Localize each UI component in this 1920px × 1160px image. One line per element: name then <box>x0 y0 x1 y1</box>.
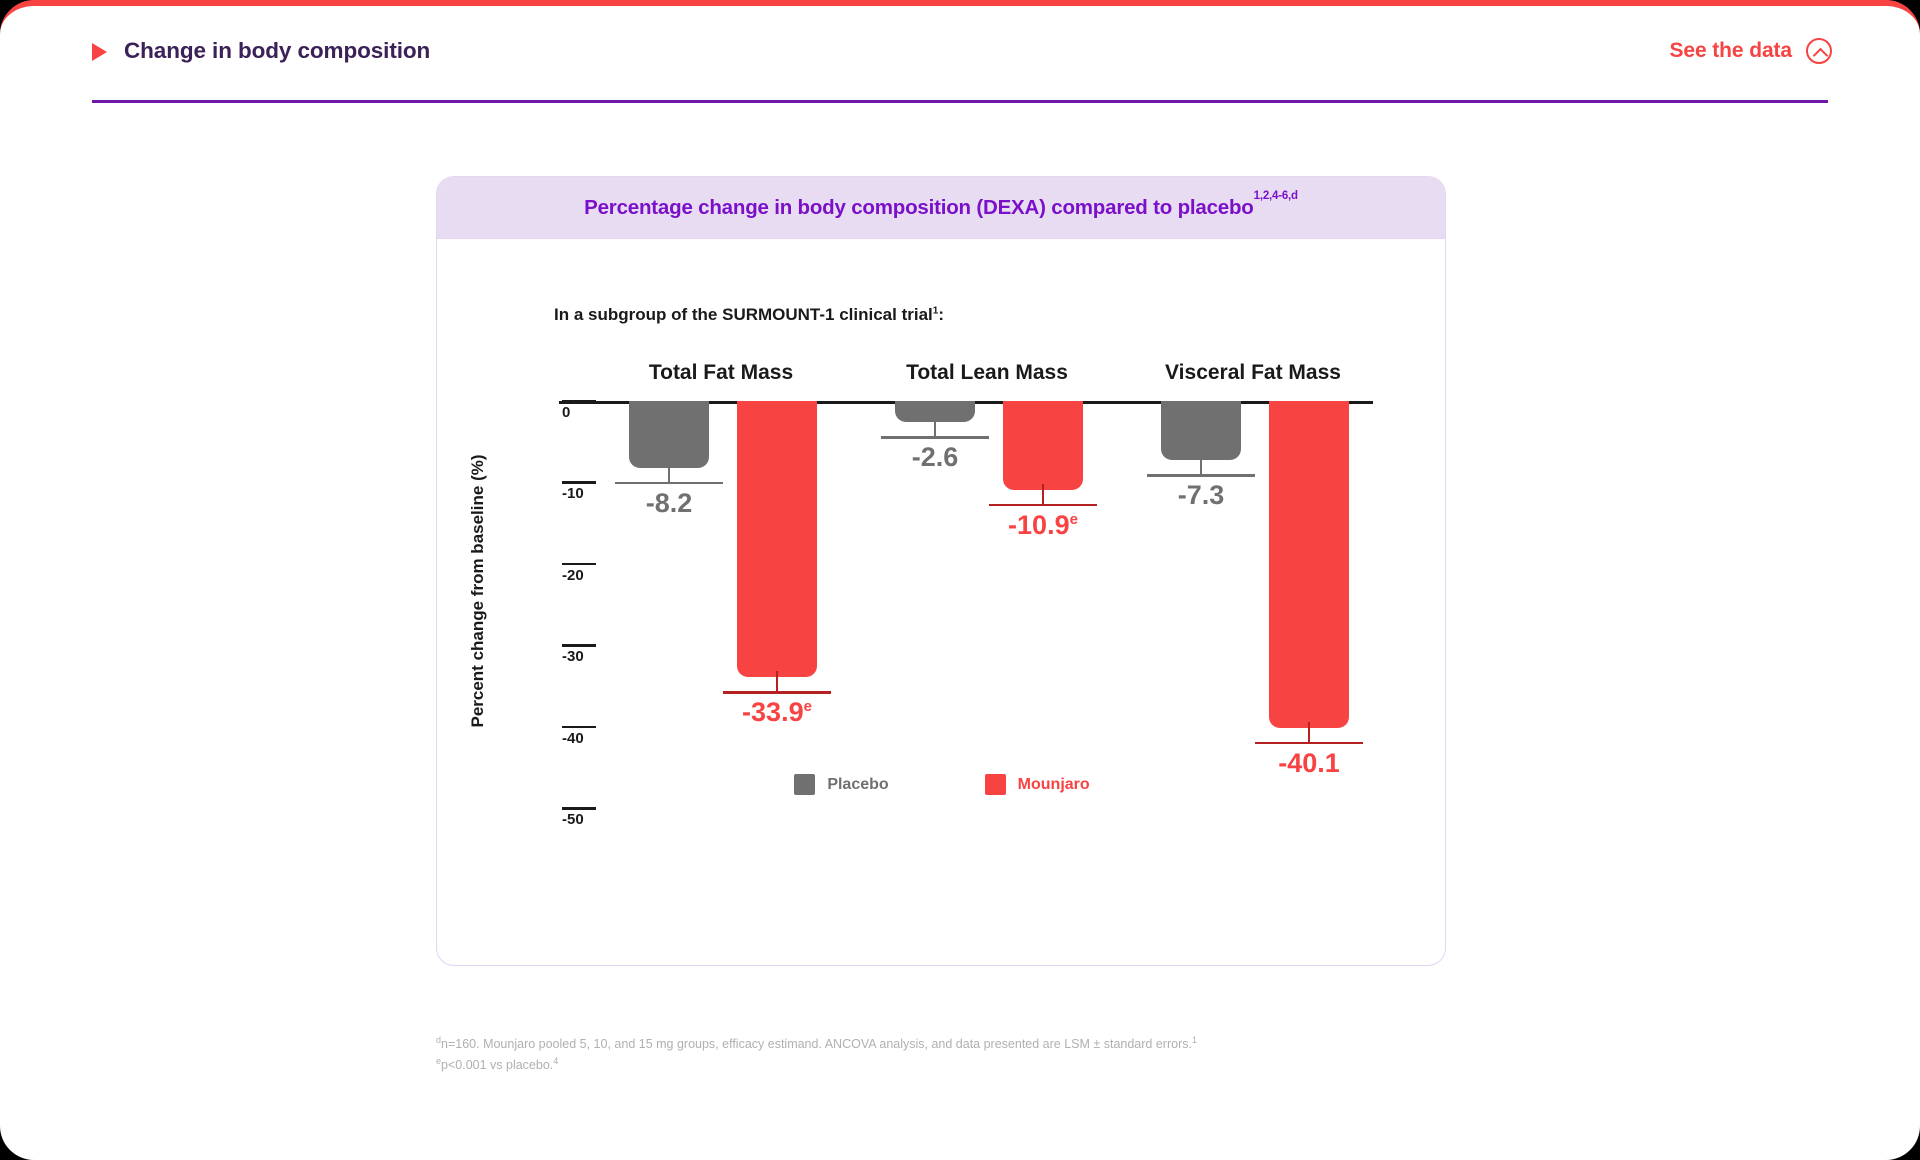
footnote-2-text: p<0.001 vs placebo. <box>441 1058 553 1072</box>
error-bar-stem <box>776 671 779 691</box>
y-axis-tick-mark <box>562 726 596 729</box>
page-card: Change in body composition See the data … <box>0 0 1920 1160</box>
footnote-line-2: ep<0.001 vs placebo.4 <box>436 1055 1536 1076</box>
error-bar-cap <box>615 482 723 485</box>
group-label: Total Fat Mass <box>621 361 821 385</box>
error-bar-cap <box>1147 474 1255 477</box>
header-title-group: Change in body composition <box>92 38 430 64</box>
bar-value-label: -10.9e <box>968 510 1118 541</box>
legend-label: Mounjaro <box>1018 776 1090 794</box>
section-header: Change in body composition See the data <box>0 12 1920 96</box>
y-axis-tick-mark <box>562 400 596 403</box>
chart-body: In a subgroup of the SURMOUNT-1 clinical… <box>437 239 1445 965</box>
chart-card: Percentage change in body composition (D… <box>436 176 1446 966</box>
see-the-data-toggle[interactable]: See the data <box>1669 38 1832 64</box>
bar-value-label: -7.3 <box>1126 480 1276 511</box>
chart-card-header: Percentage change in body composition (D… <box>437 177 1445 239</box>
bar-value-superscript: e <box>804 698 812 715</box>
bar-mounjaro <box>1269 401 1349 728</box>
header-divider <box>92 100 1828 103</box>
chart-title-text: Percentage change in body composition (D… <box>584 196 1254 219</box>
bar-value-text: -7.3 <box>1178 480 1225 510</box>
error-bar-stem <box>934 416 937 436</box>
group-label: Visceral Fat Mass <box>1153 361 1353 385</box>
chart-legend: PlaceboMounjaro <box>437 774 1446 795</box>
error-bar-stem <box>1200 454 1203 474</box>
chevron-up-circle-icon[interactable] <box>1806 38 1832 64</box>
y-axis-tick-label: -10 <box>562 485 584 502</box>
legend-item: Placebo <box>794 774 888 795</box>
bar-value-label: -33.9e <box>702 697 852 728</box>
bar-value-superscript: e <box>1070 511 1078 528</box>
bar-value-label: -8.2 <box>594 488 744 519</box>
bar-mounjaro <box>737 401 817 677</box>
error-bar-stem <box>1308 722 1311 742</box>
legend-item: Mounjaro <box>985 774 1090 795</box>
bar-value-label: -2.6 <box>860 442 1010 473</box>
error-bar-cap <box>723 691 831 694</box>
error-bar-cap <box>881 436 989 439</box>
error-bar-stem <box>1042 484 1045 504</box>
footnote-2-ref: 4 <box>553 1056 558 1066</box>
error-bar-cap <box>1255 742 1363 745</box>
footnote-1-ref: 1 <box>1192 1035 1197 1045</box>
y-axis-tick-label: -30 <box>562 648 584 665</box>
see-the-data-label: See the data <box>1669 39 1792 63</box>
y-axis-tick-label: -40 <box>562 730 584 747</box>
page-title: Change in body composition <box>124 38 430 64</box>
bar-placebo <box>629 401 709 468</box>
legend-swatch <box>985 774 1006 795</box>
chart-title-superscript: 1,2,4-6,d <box>1254 190 1298 202</box>
y-axis-tick-mark <box>562 563 596 566</box>
bar-chart-plot: Percent change from baseline (%) 0-10-20… <box>437 239 1446 965</box>
error-bar-cap <box>989 504 1097 507</box>
error-bar-stem <box>668 462 671 482</box>
y-axis-tick-mark <box>562 644 596 647</box>
y-axis-tick-label: 0 <box>562 404 570 421</box>
y-axis-tick-mark <box>562 807 596 810</box>
y-axis-title: Percent change from baseline (%) <box>468 446 488 736</box>
bar-placebo <box>1161 401 1241 460</box>
bar-mounjaro <box>1003 401 1083 490</box>
chart-title: Percentage change in body composition (D… <box>584 196 1298 220</box>
legend-label: Placebo <box>827 776 888 794</box>
footnotes: dn=160. Mounjaro pooled 5, 10, and 15 mg… <box>436 1034 1536 1075</box>
bar-value-text: -8.2 <box>646 488 693 518</box>
footnote-1-text: n=160. Mounjaro pooled 5, 10, and 15 mg … <box>441 1037 1192 1051</box>
play-triangle-icon <box>92 43 107 61</box>
bar-value-text: -2.6 <box>912 442 959 472</box>
y-axis-tick-label: -20 <box>562 567 584 584</box>
bar-value-text: -33.9 <box>742 697 804 727</box>
footnote-line-1: dn=160. Mounjaro pooled 5, 10, and 15 mg… <box>436 1034 1536 1055</box>
y-axis-tick-label: -50 <box>562 811 584 828</box>
group-label: Total Lean Mass <box>887 361 1087 385</box>
legend-swatch <box>794 774 815 795</box>
y-axis-tick-mark <box>562 481 596 484</box>
bar-value-text: -10.9 <box>1008 510 1070 540</box>
